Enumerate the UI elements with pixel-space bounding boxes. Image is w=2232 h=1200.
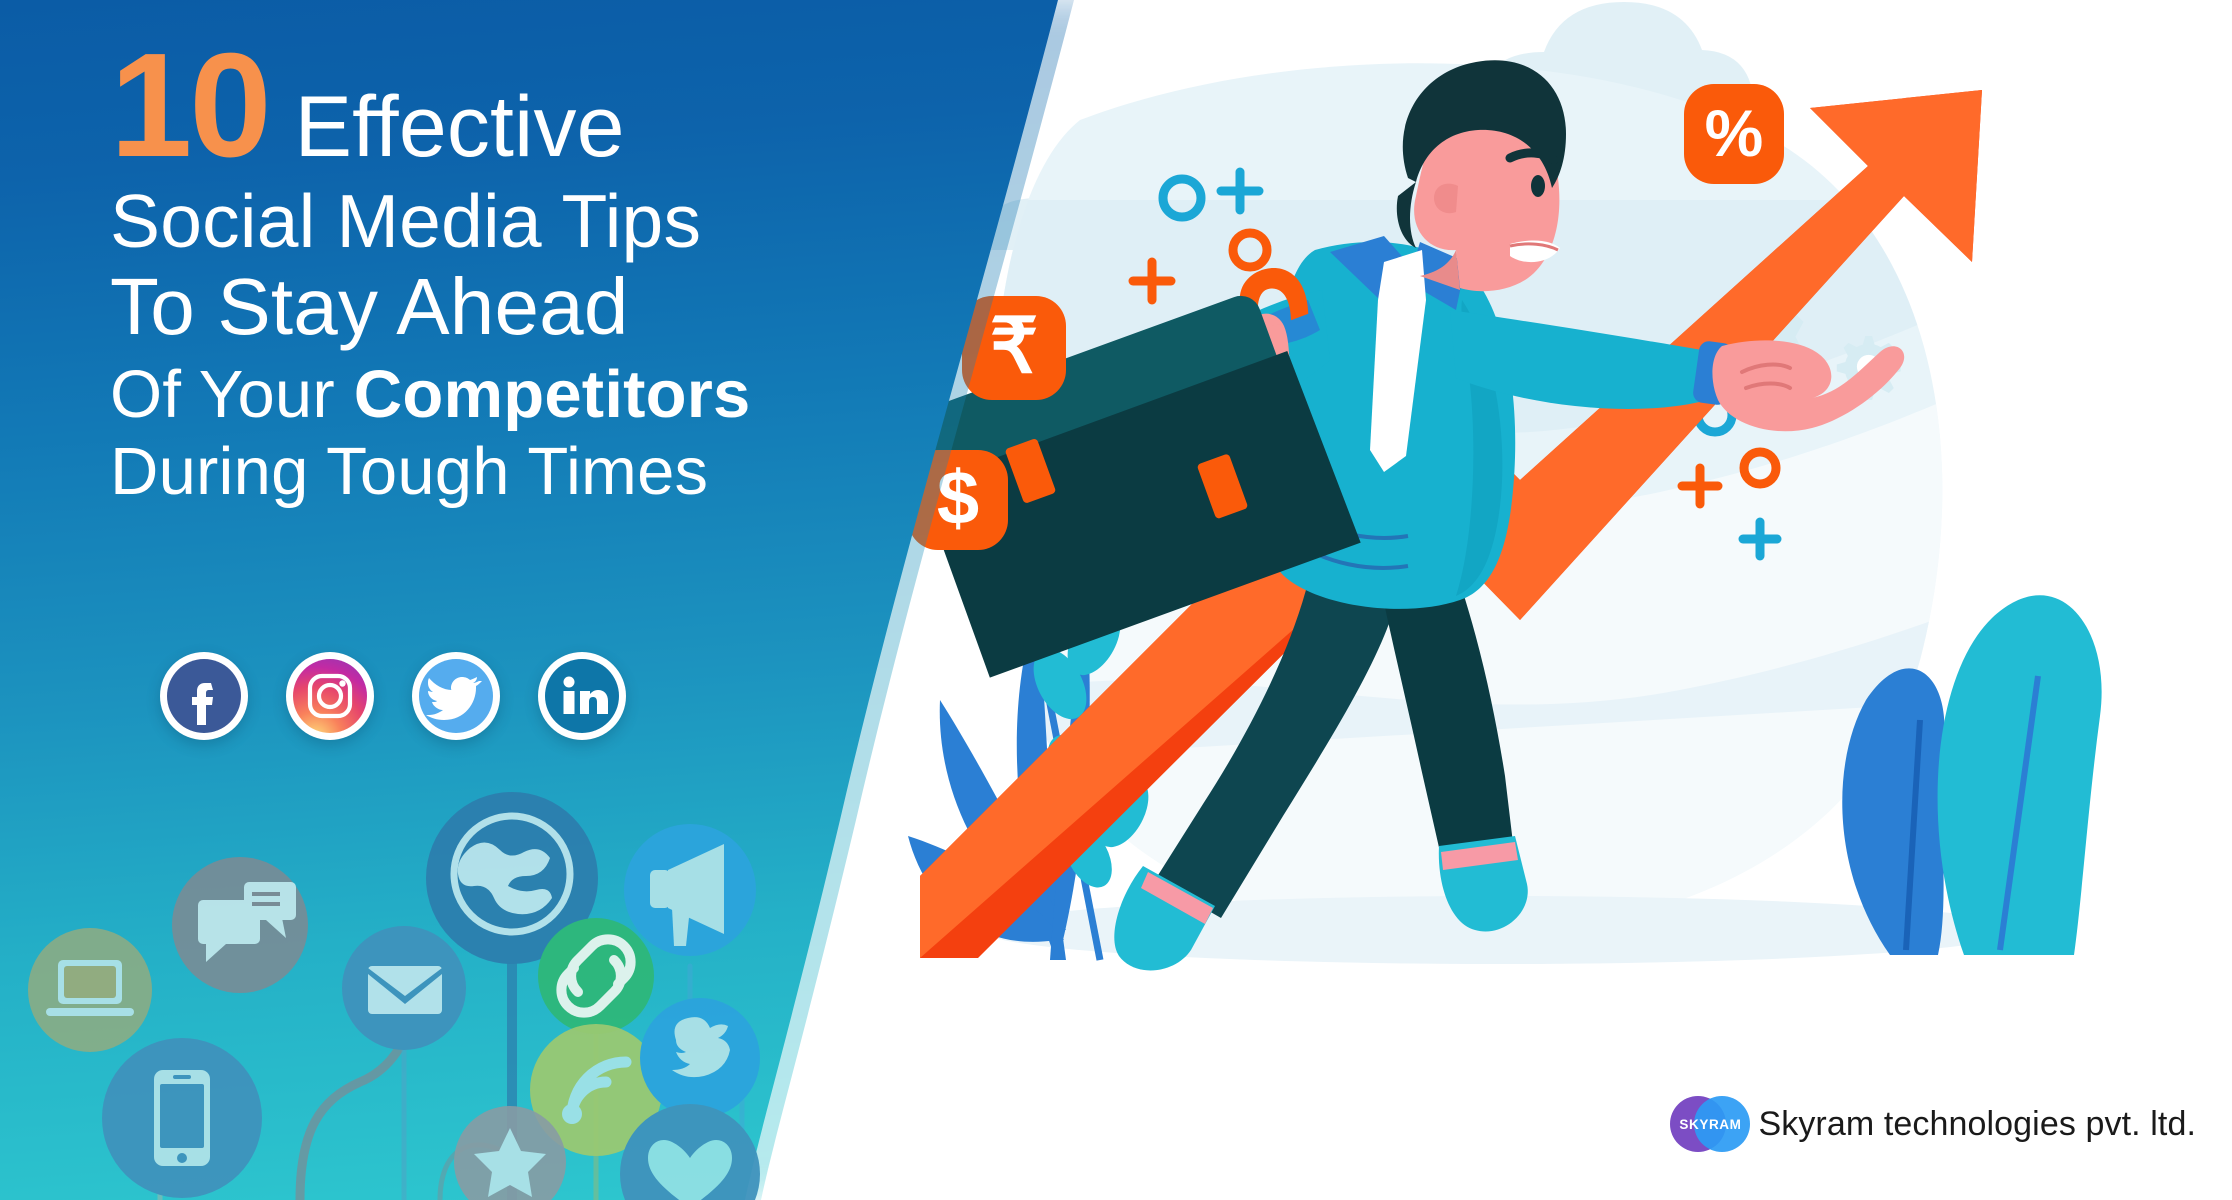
percent-symbol: % — [1705, 96, 1764, 170]
headline-line-2: Social Media Tips — [110, 184, 830, 259]
twitter-icon — [419, 659, 493, 733]
brand-footer: SKYRAM Skyram technologies pvt. ltd. — [1670, 1096, 2196, 1152]
headline-line-3: To Stay Ahead — [110, 267, 830, 347]
rupee-symbol: ₹ — [990, 304, 1038, 389]
social-icon-cluster — [0, 770, 820, 1200]
skyram-logo-mark: SKYRAM — [1670, 1096, 1740, 1152]
headline-line-4-bold: Competitors — [354, 357, 751, 432]
link-icon — [538, 918, 654, 1034]
social-button-instagram[interactable] — [286, 652, 374, 740]
envelope-icon — [342, 926, 466, 1050]
headline-line-4: Of Your Competitors — [110, 361, 830, 428]
logo-mark-text: SKYRAM — [1670, 1096, 1750, 1152]
percent-badge: % — [1684, 84, 1784, 184]
headline-line-4-pre: Of Your — [110, 357, 354, 432]
linkedin-icon — [545, 659, 619, 733]
headline-line-5: During Tough Times — [110, 438, 830, 505]
brand-name: Skyram technologies pvt. ltd. — [1758, 1105, 2196, 1144]
bird-icon — [640, 998, 760, 1118]
facebook-icon — [167, 659, 241, 733]
social-buttons-row — [160, 652, 626, 740]
mobile-phone-icon — [102, 1038, 262, 1198]
chat-bubbles-icon — [172, 857, 308, 993]
banner-canvas: ₹ $ % — [0, 0, 2232, 1200]
headline-block: 10 Effective Social Media Tips To Stay A… — [110, 38, 830, 505]
headline-line-1: 10 Effective — [110, 38, 830, 174]
laptop-icon — [28, 928, 152, 1052]
headline-line-1-rest: Effective — [295, 84, 625, 170]
hero-illustration: ₹ $ % — [860, 0, 2232, 1200]
social-button-twitter[interactable] — [412, 652, 500, 740]
social-button-linkedin[interactable] — [538, 652, 626, 740]
headline-number: 10 — [110, 38, 269, 174]
social-button-facebook[interactable] — [160, 652, 248, 740]
instagram-icon — [293, 659, 367, 733]
megaphone-icon — [624, 824, 756, 956]
